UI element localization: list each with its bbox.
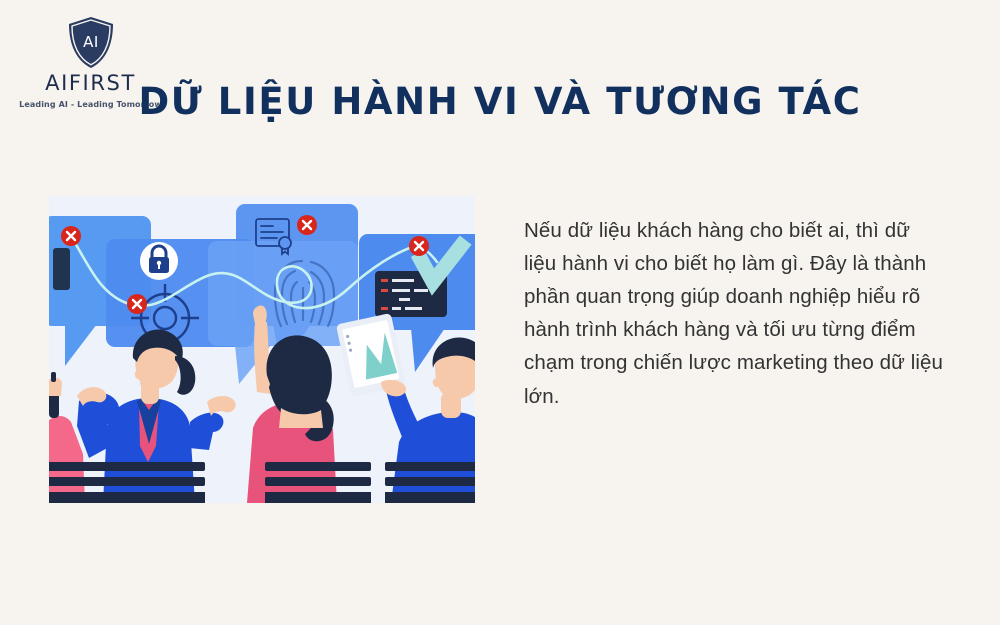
illustration-svg (49, 196, 475, 503)
error-x-marker-icon (409, 236, 429, 256)
bench-left (49, 462, 113, 503)
body-paragraph: Nếu dữ liệu khách hàng cho biết ai, thì … (524, 214, 944, 413)
smartphone-icon (53, 248, 70, 290)
error-x-marker-icon (297, 215, 317, 235)
lock-icon (140, 242, 178, 280)
illustration-behavioral-data (49, 196, 475, 503)
shield-ai-icon: AI (67, 16, 115, 70)
bench-center-left (105, 462, 205, 503)
error-x-marker-icon (127, 294, 147, 314)
bench-right (385, 462, 475, 503)
page-title: DỮ LIỆU HÀNH VI VÀ TƯƠNG TÁC (0, 81, 1000, 124)
error-x-marker-icon (61, 226, 81, 246)
bench-center-right (265, 462, 371, 503)
svg-text:AI: AI (83, 33, 99, 51)
